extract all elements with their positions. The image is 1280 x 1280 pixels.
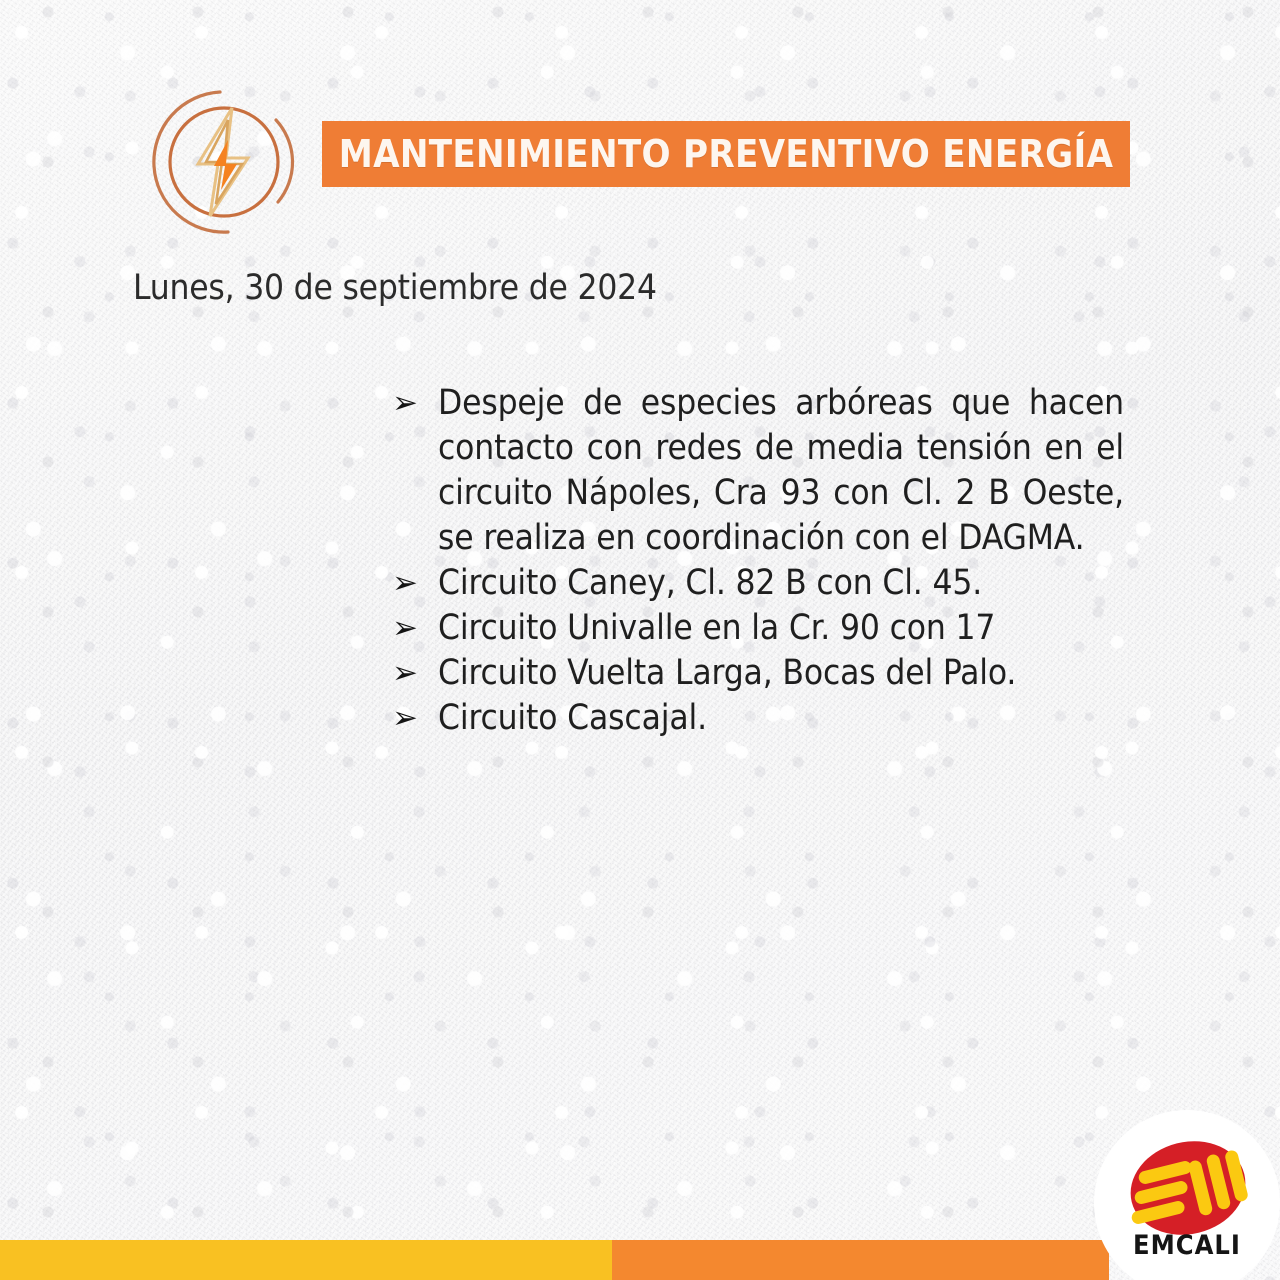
bullet-arrow-icon: ➢ [392, 606, 428, 651]
bullet-arrow-icon: ➢ [392, 651, 428, 696]
header-banner: MANTENIMIENTO PREVENTIVO ENERGÍA [322, 121, 1130, 187]
lightning-bolt-circle-icon [152, 86, 304, 238]
list-item: ➢ Despeje de especies arbóreas que hacen… [392, 381, 1124, 561]
footer-color-bar [0, 1240, 1280, 1280]
footer-bar-yellow-segment [0, 1240, 612, 1280]
list-item: ➢ Circuito Cascajal. [392, 696, 1124, 741]
list-item-text: Circuito Caney, Cl. 82 B con Cl. 45. [438, 563, 982, 603]
list-item-text: Circuito Cascajal. [438, 698, 707, 738]
list-item: ➢ Circuito Vuelta Larga, Bocas del Palo. [392, 651, 1124, 696]
bullet-arrow-icon: ➢ [392, 561, 428, 606]
header: MANTENIMIENTO PREVENTIVO ENERGÍA [0, 0, 1280, 250]
footer-bar-orange-segment [612, 1240, 1109, 1280]
list-item-text: Circuito Univalle en la Cr. 90 con 17 [438, 608, 995, 648]
list-item-text: Circuito Vuelta Larga, Bocas del Palo. [438, 653, 1016, 693]
poster-canvas: MANTENIMIENTO PREVENTIVO ENERGÍA Lunes, … [0, 0, 1280, 1280]
bullet-arrow-icon: ➢ [392, 696, 428, 741]
emcali-logo: EMCALI [1094, 1110, 1280, 1280]
emcali-wordmark: EMCALI [1094, 1230, 1280, 1261]
header-banner-title: MANTENIMIENTO PREVENTIVO ENERGÍA [339, 132, 1114, 176]
list-item: ➢ Circuito Caney, Cl. 82 B con Cl. 45. [392, 561, 1124, 606]
date-label: Lunes, 30 de septiembre de 2024 [133, 268, 657, 308]
maintenance-items-list: ➢ Despeje de especies arbóreas que hacen… [392, 381, 1124, 741]
bullet-arrow-icon: ➢ [392, 381, 428, 426]
list-item: ➢ Circuito Univalle en la Cr. 90 con 17 [392, 606, 1124, 651]
list-item-text: Despeje de especies arbóreas que hacen c… [438, 381, 1124, 561]
